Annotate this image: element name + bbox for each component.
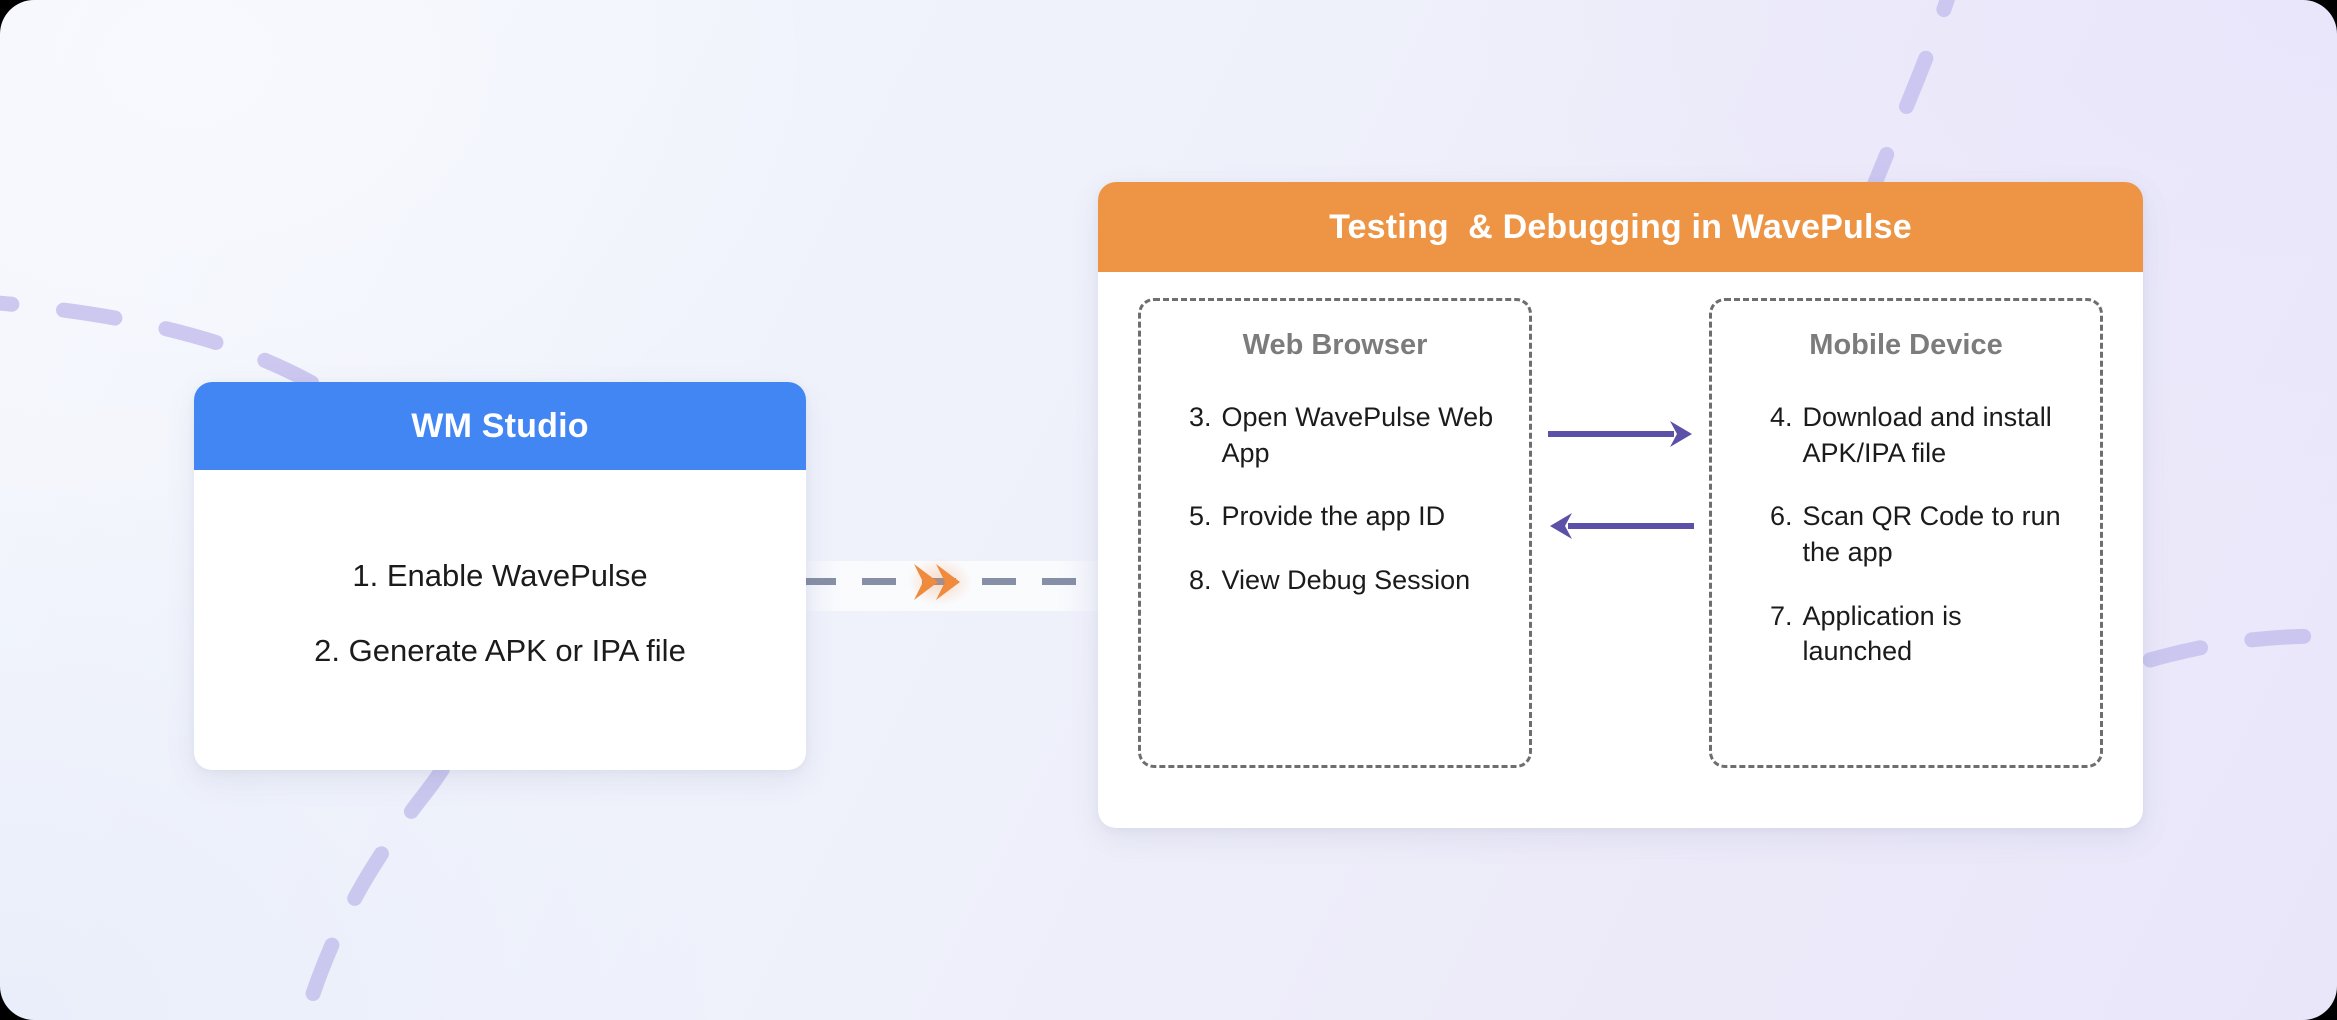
- list-item: 4. Download and install APK/IPA file: [1770, 400, 2070, 471]
- testing-debugging-header: Testing & Debugging in WavePulse: [1098, 182, 2143, 272]
- step-number: 8.: [1189, 563, 1212, 599]
- diagram-canvas: WM Studio 1. Enable WavePulse 2. Generat…: [0, 0, 2337, 1020]
- step-number: 3.: [1189, 400, 1212, 471]
- wm-studio-step-1: 1. Enable WavePulse: [352, 557, 647, 596]
- wm-studio-title: WM Studio: [411, 407, 588, 446]
- step-number: 4.: [1770, 400, 1793, 471]
- testing-debugging-title: Testing & Debugging in WavePulse: [1329, 208, 1912, 247]
- list-item: 6. Scan QR Code to run the app: [1770, 499, 2070, 570]
- step-text: Provide the app ID: [1222, 499, 1446, 535]
- step-text: Download and install APK/IPA file: [1803, 400, 2070, 471]
- testing-debugging-body: Web Browser 3. Open WavePulse Web App 5.…: [1098, 272, 2143, 828]
- step-text: Scan QR Code to run the app: [1803, 499, 2070, 570]
- panel-mobile-device-steps: 4. Download and install APK/IPA file 6. …: [1728, 400, 2084, 670]
- step-number: 7.: [1770, 599, 1793, 670]
- wm-studio-body: 1. Enable WavePulse 2. Generate APK or I…: [194, 470, 806, 770]
- panel-web-browser: Web Browser 3. Open WavePulse Web App 5.…: [1138, 298, 1532, 768]
- list-item: 7. Application is launched: [1770, 599, 2070, 670]
- list-item: 8. View Debug Session: [1189, 563, 1470, 599]
- deco-curve-right: [2150, 636, 2337, 660]
- step-text: View Debug Session: [1222, 563, 1471, 599]
- step-number: 5.: [1189, 499, 1212, 535]
- wm-studio-step-2: 2. Generate APK or IPA file: [314, 632, 686, 671]
- testing-debugging-card: Testing & Debugging in WavePulse Web Bro…: [1098, 182, 2143, 828]
- list-item: 3. Open WavePulse Web App: [1189, 400, 1499, 471]
- double-chevron-right-icon: [908, 552, 972, 612]
- list-item: 5. Provide the app ID: [1189, 499, 1445, 535]
- arrow-device-to-browser: [1544, 506, 1698, 546]
- step-text: Open WavePulse Web App: [1222, 400, 1499, 471]
- arrow-browser-to-device: [1544, 414, 1698, 454]
- panel-mobile-device: Mobile Device 4. Download and install AP…: [1709, 298, 2103, 768]
- step-number: 6.: [1770, 499, 1793, 570]
- panel-web-browser-steps: 3. Open WavePulse Web App 5. Provide the…: [1157, 400, 1513, 599]
- wm-studio-card: WM Studio 1. Enable WavePulse 2. Generat…: [194, 382, 806, 770]
- wm-studio-header: WM Studio: [194, 382, 806, 470]
- panel-arrows-group: [1544, 414, 1698, 544]
- panel-mobile-device-title: Mobile Device: [1809, 329, 2002, 362]
- panel-web-browser-title: Web Browser: [1243, 329, 1428, 362]
- step-text: Application is launched: [1803, 599, 2070, 670]
